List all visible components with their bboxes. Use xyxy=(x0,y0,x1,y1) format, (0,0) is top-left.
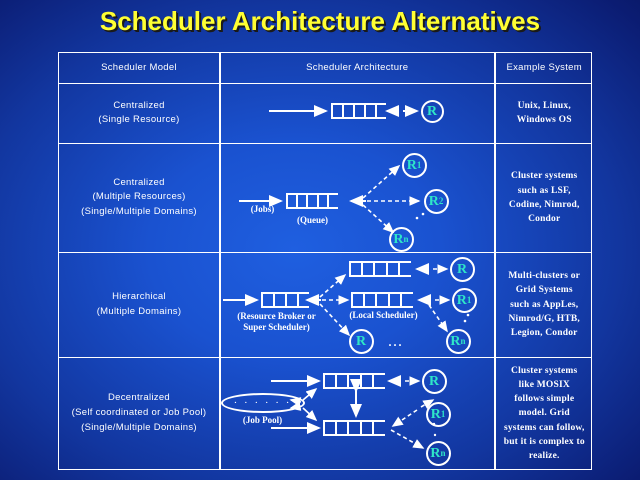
row-1-example: Unix, Linux, Windows OS xyxy=(496,84,594,143)
row-1-model-line-2: (Single Resource) xyxy=(98,113,179,128)
row-2-example-line-1: Cluster systems xyxy=(509,169,580,183)
row-4-resource-label-top: R xyxy=(429,375,439,389)
row-4-job-pool-dots: · · · · · · xyxy=(234,397,292,409)
row-2-queue xyxy=(286,193,338,209)
row-4-resource-label-1: R xyxy=(431,408,441,422)
row-4-example-line-7: realize. xyxy=(504,449,585,463)
row-3-broker-queue xyxy=(261,292,309,308)
architecture-table: Scheduler Model Scheduler Architecture E… xyxy=(58,52,592,470)
row-3-resource-node-1: R1 xyxy=(452,288,477,313)
row-3-broker-label-line-1: (Resource Broker or xyxy=(217,311,337,322)
row-4-resource-label-n: R xyxy=(430,447,440,461)
row-2-diagram: (Jobs) (Queue) R1 R2 Rn xyxy=(221,144,495,252)
row-4-diagram: · · · · · · (Job Pool) R R1 Rn xyxy=(221,358,495,469)
row-2-resource-sub-n: n xyxy=(404,235,409,244)
row-4-queue-lower xyxy=(323,420,385,436)
row-3-resource-node-top: R xyxy=(450,257,475,282)
row-3-resource-label-top: R xyxy=(457,263,467,277)
row-4-model-line-1: Decentralized xyxy=(72,391,207,406)
row-4-example-line-2: like MOSIX xyxy=(504,378,585,392)
row-2-resource-sub-1: 1 xyxy=(417,161,422,170)
row-4-example-line-1: Cluster systems xyxy=(504,364,585,378)
row-2-example: Cluster systems such as LSF, Codine, Nim… xyxy=(496,144,594,252)
row-2-model: Centralized (Multiple Resources) (Single… xyxy=(59,144,219,252)
header-scheduler-architecture: Scheduler Architecture xyxy=(221,53,495,83)
row-3-local-scheduler-label: (Local Scheduler) xyxy=(339,310,429,321)
row-3-example-line-3: such as AppLes, xyxy=(508,298,580,312)
row-4-resource-sub-n: n xyxy=(441,449,446,458)
row-2-model-line-2: (Multiple Resources) xyxy=(81,190,197,205)
row-2-resource-label-n: R xyxy=(393,233,403,247)
row-4-model-line-3: (Single/Multiple Domains) xyxy=(72,421,207,436)
row-3-broker-label: (Resource Broker or Super Scheduler) xyxy=(217,311,337,334)
row-2-queue-label: (Queue) xyxy=(283,215,343,226)
row-3-resource-label-n: R xyxy=(450,335,460,349)
row-4-resource-node-top: R xyxy=(422,369,447,394)
row-3-diagram: (Resource Broker or Super Scheduler) (Lo… xyxy=(221,253,495,357)
row-3-resource-node-local: R xyxy=(349,329,374,354)
row-3-resource-label-1: R xyxy=(457,294,467,308)
row-4-example-line-4: model. Grid xyxy=(504,406,585,420)
row-2-resource-sub-2: 2 xyxy=(439,197,444,206)
row-2-resource-node-2: R2 xyxy=(424,189,449,214)
row-3-example-line-1: Multi-clusters or xyxy=(508,269,580,283)
row-1-model-line-1: Centralized xyxy=(98,99,179,114)
row-2-example-line-2: such as LSF, xyxy=(509,184,580,198)
row-2-resource-label-2: R xyxy=(429,195,439,209)
row-4-job-pool-label: (Job Pool) xyxy=(227,415,299,426)
row-3-local-queue-upper xyxy=(349,261,411,277)
row-4-example-line-3: follows simple xyxy=(504,392,585,406)
row-2-resource-label-1: R xyxy=(407,159,417,173)
row-3-example-line-4: Nimrod/G, HTB, xyxy=(508,312,580,326)
row-4-model: Decentralized (Self coordinated or Job P… xyxy=(59,358,219,469)
row-2-jobs-label: (Jobs) xyxy=(239,204,287,215)
row-3-resource-label-local: R xyxy=(356,335,366,349)
row-1-example-line-2: Windows OS xyxy=(517,113,572,127)
row-3-resource-node-n: Rn xyxy=(446,329,471,354)
slide-canvas: Scheduler Architecture Alternatives Sche… xyxy=(0,0,640,480)
row-3-resource-sub-n: n xyxy=(461,337,466,346)
row-2-resource-node-n: Rn xyxy=(389,227,414,252)
row-4-queue-upper xyxy=(323,373,385,389)
row-3-broker-label-line-2: Super Scheduler) xyxy=(217,322,337,333)
row-3-model-line-1: Hierarchical xyxy=(97,290,182,305)
slide-title: Scheduler Architecture Alternatives xyxy=(0,6,640,37)
row-4-example: Cluster systems like MOSIX follows simpl… xyxy=(496,358,594,469)
row-4-model-line-2: (Self coordinated or Job Pool) xyxy=(72,406,207,421)
header-example-system: Example System xyxy=(496,53,594,83)
row-1-diagram: R xyxy=(221,84,495,143)
row-3-ellipsis: ... xyxy=(389,335,404,350)
row-4-resource-node-n: Rn xyxy=(426,441,451,466)
row-3-model-line-2: (Multiple Domains) xyxy=(97,305,182,320)
row-4-resource-sub-1: 1 xyxy=(441,410,446,419)
row-1-queue xyxy=(331,103,386,119)
row-1-resource-label: R xyxy=(427,105,437,119)
row-2-example-line-4: Condor xyxy=(509,212,580,226)
row-3-example: Multi-clusters or Grid Systems such as A… xyxy=(496,253,594,357)
row-3-resource-sub-1: 1 xyxy=(467,296,472,305)
row-1-example-line-1: Unix, Linux, xyxy=(517,99,572,113)
row-4-example-line-5: systems can follow, xyxy=(504,421,585,435)
row-2-connectors xyxy=(221,144,495,252)
row-3-example-line-2: Grid Systems xyxy=(508,283,580,297)
row-2-model-line-3: (Single/Multiple Domains) xyxy=(81,205,197,220)
header-scheduler-model: Scheduler Model xyxy=(59,53,219,83)
row-4-example-line-6: but it is complex to xyxy=(504,435,585,449)
row-1-resource-node: R xyxy=(421,100,444,123)
row-4-job-pool: · · · · · · xyxy=(221,393,305,413)
row-2-example-line-3: Codine, Nimrod, xyxy=(509,198,580,212)
row-1-model: Centralized (Single Resource) xyxy=(59,84,219,143)
row-2-resource-node-1: R1 xyxy=(402,153,427,178)
row-2-model-line-1: Centralized xyxy=(81,176,197,191)
row-4-resource-node-1: R1 xyxy=(426,402,451,427)
row-3-local-queue-lower xyxy=(351,292,413,308)
row-3-model: Hierarchical (Multiple Domains) xyxy=(59,253,219,357)
row-3-example-line-5: Legion, Condor xyxy=(508,326,580,340)
